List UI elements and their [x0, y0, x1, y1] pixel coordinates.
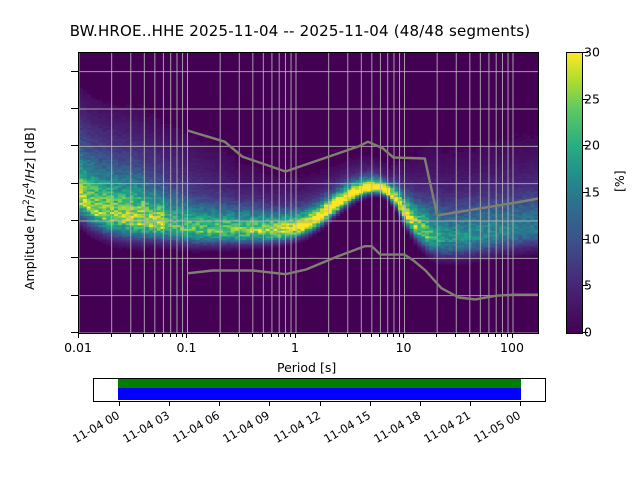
timeline-tick-label: 11-04 15 [321, 408, 373, 446]
ppsd-canvas [79, 53, 538, 333]
x-tick-label: 10 [396, 340, 412, 355]
page-title: BW.HROE..HHE 2025-11-04 -- 2025-11-04 (4… [0, 22, 600, 40]
x-minor-tick-mark [387, 334, 388, 337]
x-minor-tick-mark [130, 334, 131, 337]
timeline-tick-mark [470, 402, 471, 406]
x-minor-tick-mark [284, 334, 285, 337]
y-tick-mark [71, 108, 78, 109]
x-minor-tick-mark [290, 334, 291, 337]
timeline-tick-label: 11-04 18 [371, 408, 423, 446]
y-tick-mark [71, 71, 78, 72]
x-tick-label: 1 [291, 340, 299, 355]
x-minor-tick-mark [278, 334, 279, 337]
x-minor-tick-mark [219, 334, 220, 337]
timeline-tick-label: 11-04 09 [221, 408, 273, 446]
x-minor-tick-mark [479, 334, 480, 337]
plot-area [78, 52, 539, 334]
x-tick-mark [295, 334, 296, 338]
timeline-tick-label: 11-04 12 [271, 408, 323, 446]
colorbar-label: [%] [612, 170, 627, 192]
x-minor-tick-mark [488, 334, 489, 337]
x-tick-label: 100 [500, 340, 524, 355]
x-minor-tick-mark [455, 334, 456, 337]
x-tick-mark [186, 334, 187, 338]
timeline-tick-mark [219, 402, 220, 406]
y-tick-mark [71, 220, 78, 221]
timeline-tick-mark [520, 402, 521, 406]
timeline-tick-label: 11-04 06 [170, 408, 222, 446]
colorbar-tick-mark [583, 332, 588, 333]
timeline-tick-mark [320, 402, 321, 406]
x-minor-tick-mark [399, 334, 400, 337]
colorbar-tick-mark [583, 192, 588, 193]
x-minor-tick-mark [495, 334, 496, 337]
x-minor-tick-mark [143, 334, 144, 337]
x-minor-tick-mark [379, 334, 380, 337]
colorbar-tick-mark [583, 145, 588, 146]
timeline-tick-mark [269, 402, 270, 406]
timeline-green-bar [118, 379, 521, 388]
timeline-tick-label: 11-04 00 [70, 408, 122, 446]
timeline-tick-label: 11-04 03 [120, 408, 172, 446]
y-tick-mark [71, 332, 78, 333]
timeline-tick-mark [370, 402, 371, 406]
ppsd-figure: BW.HROE..HHE 2025-11-04 -- 2025-11-04 (4… [0, 0, 640, 480]
timeline-tick-mark [119, 402, 120, 406]
coverage-timeline[interactable] [93, 378, 546, 402]
x-tick-mark [512, 334, 513, 338]
timeline-tick-label: 11-05 00 [471, 408, 523, 446]
x-minor-tick-mark [469, 334, 470, 337]
x-tick-mark [403, 334, 404, 338]
colorbar-tick-mark [583, 52, 588, 53]
x-minor-tick-mark [271, 334, 272, 337]
timeline-tick-mark [420, 402, 421, 406]
x-minor-tick-mark [360, 334, 361, 337]
y-tick-mark [71, 257, 78, 258]
x-tick-mark [78, 334, 79, 338]
x-minor-tick-mark [252, 334, 253, 337]
colorbar-tick-mark [583, 239, 588, 240]
x-minor-tick-mark [501, 334, 502, 337]
x-minor-tick-mark [170, 334, 171, 337]
colorbar-tick-mark [583, 285, 588, 286]
x-axis-label: Period [s] [277, 360, 336, 375]
x-tick-label: 0.01 [64, 340, 92, 355]
x-minor-tick-mark [162, 334, 163, 337]
x-minor-tick-mark [154, 334, 155, 337]
colorbar [566, 52, 583, 334]
x-minor-tick-mark [371, 334, 372, 337]
timeline-blue-bar [118, 388, 521, 400]
x-minor-tick-mark [176, 334, 177, 337]
x-minor-tick-mark [436, 334, 437, 337]
timeline-tick-mark [169, 402, 170, 406]
x-minor-tick-mark [111, 334, 112, 337]
x-minor-tick-mark [328, 334, 329, 337]
x-minor-tick-mark [238, 334, 239, 337]
x-minor-tick-mark [347, 334, 348, 337]
x-minor-tick-mark [262, 334, 263, 337]
x-minor-tick-mark [182, 334, 183, 337]
x-tick-label: 0.1 [177, 340, 197, 355]
y-axis-label: Amplitude [m2/s4/Hz] [dB] [22, 127, 37, 290]
density-histogram [79, 88, 538, 264]
timeline-tick-label: 11-04 21 [421, 408, 473, 446]
x-minor-tick-mark [507, 334, 508, 337]
colorbar-tick-mark [583, 99, 588, 100]
y-tick-mark [71, 183, 78, 184]
y-tick-mark [71, 295, 78, 296]
y-tick-mark [71, 145, 78, 146]
x-minor-tick-mark [393, 334, 394, 337]
